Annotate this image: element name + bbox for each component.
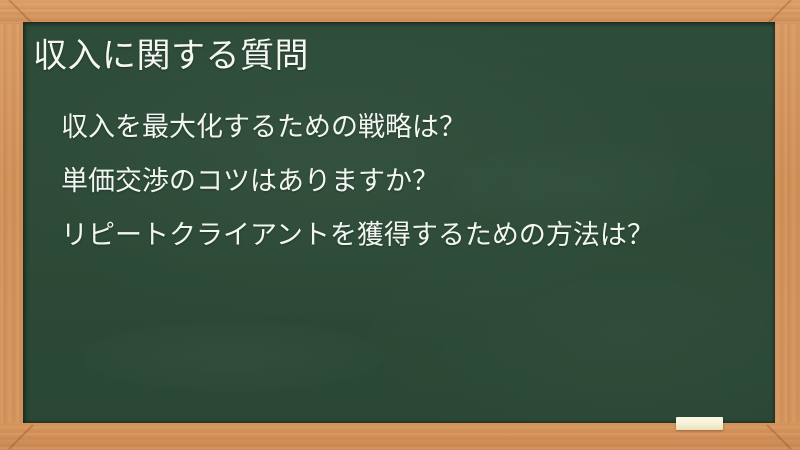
question-item: リピートクライアントを獲得するための方法は？ <box>61 208 654 262</box>
chalk-stick-icon <box>676 417 723 430</box>
chalkboard-frame: 収入に関する質問 収入を最大化するための戦略は？ 単価交渉のコツはありますか？ … <box>0 0 800 450</box>
board-title: 収入に関する質問 <box>33 34 309 78</box>
question-item: 単価交渉のコツはありますか？ <box>61 154 654 208</box>
question-item: 収入を最大化するための戦略は？ <box>61 100 654 154</box>
chalk-smear <box>83 322 383 392</box>
frame-rail-top <box>0 0 800 24</box>
question-list: 収入を最大化するための戦略は？ 単価交渉のコツはありますか？ リピートクライアン… <box>61 100 654 262</box>
chalkboard-surface: 収入に関する質問 収入を最大化するための戦略は？ 単価交渉のコツはありますか？ … <box>23 22 775 423</box>
